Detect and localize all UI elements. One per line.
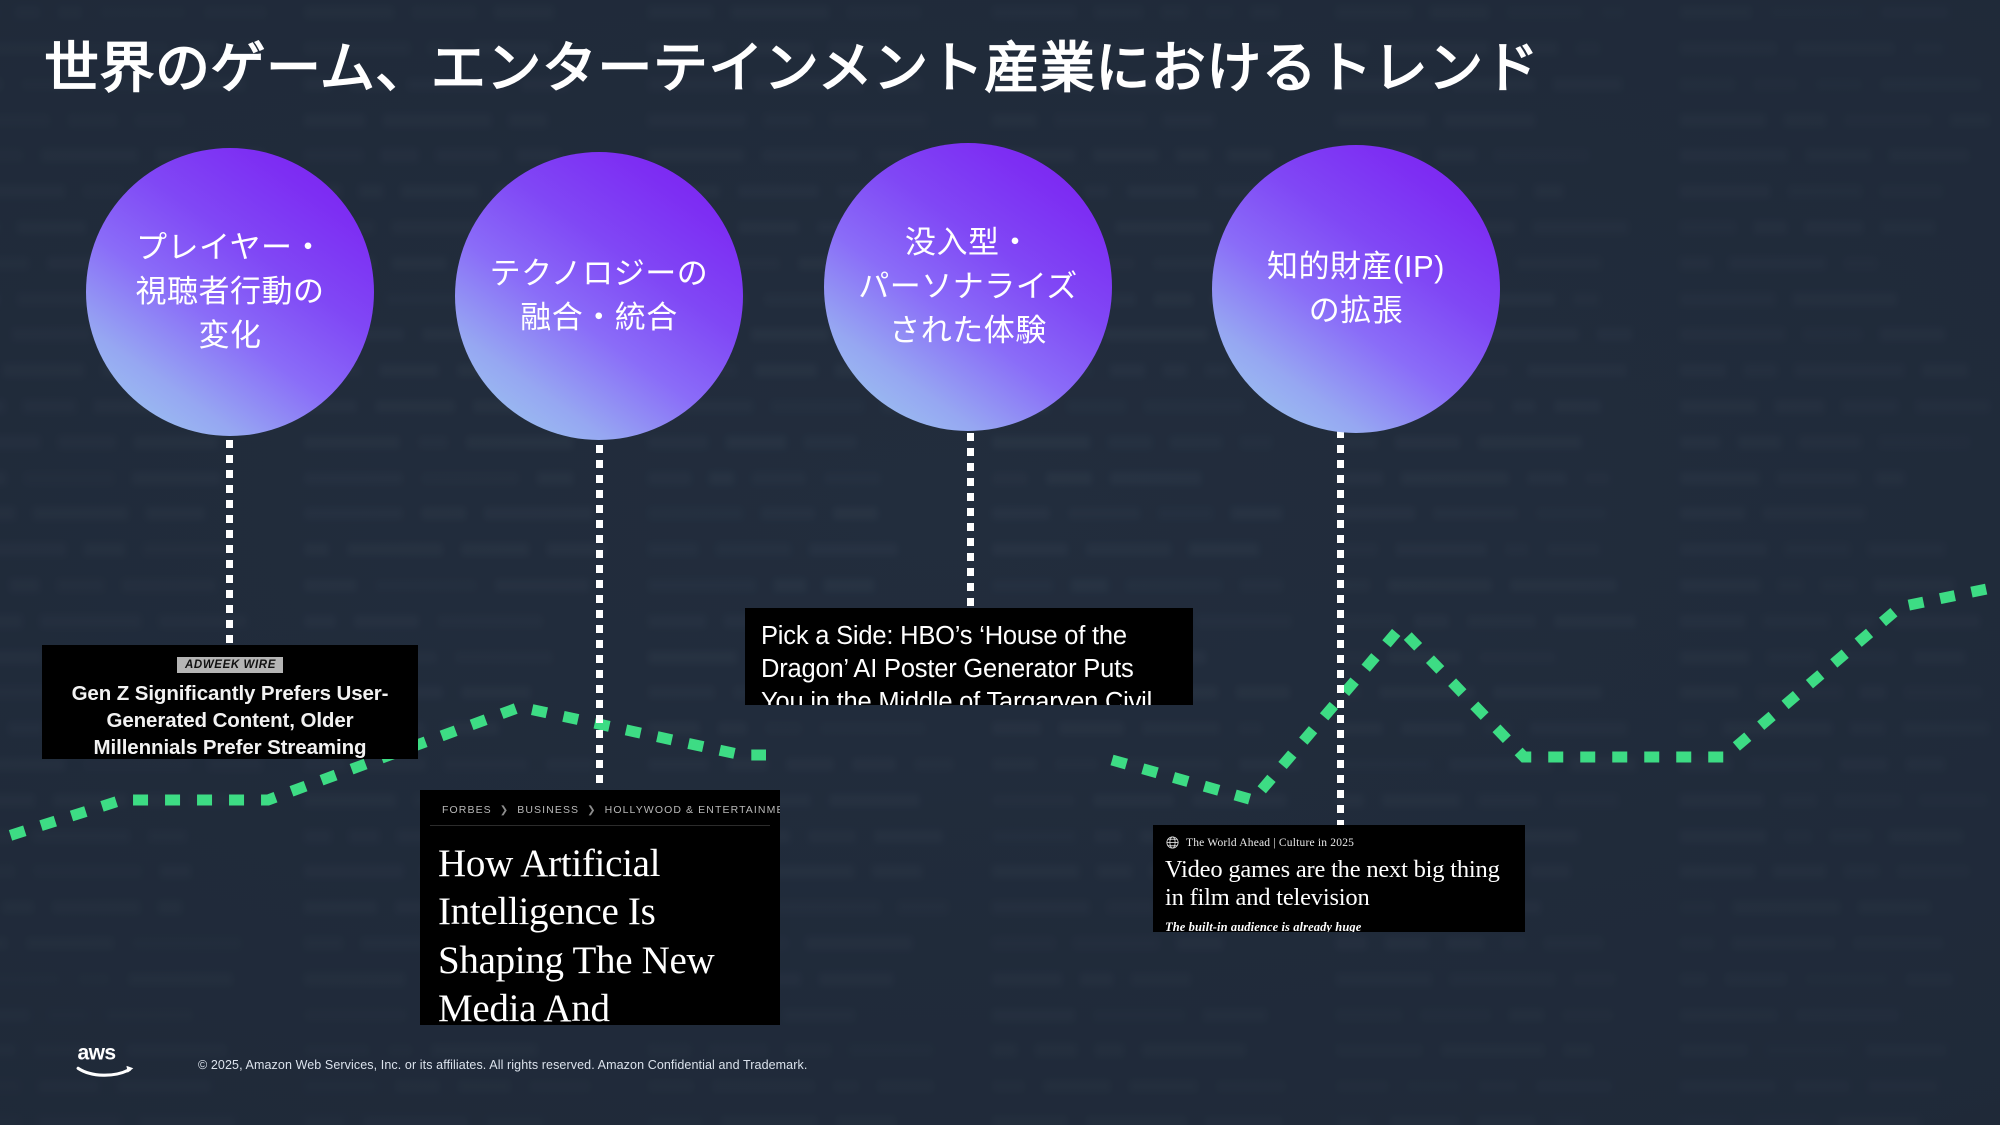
circle-label-line: 没入型・	[844, 221, 1092, 265]
globe-icon	[1165, 835, 1180, 850]
circle-label-line: された体験	[844, 309, 1092, 353]
economist-headline: Video games are the next big thing in fi…	[1165, 856, 1513, 913]
news-card-economist[interactable]: The World Ahead | Culture in 2025 Video …	[1153, 825, 1525, 932]
circle-label-line: パーソナライズ	[844, 265, 1092, 309]
economist-brand-label: The World Ahead | Culture in 2025	[1186, 837, 1354, 849]
dotted-drop-line-1	[226, 425, 233, 650]
slide-canvas: 世界のゲーム、エンターテインメント産業におけるトレンド プレイヤー・ 視聴者行動…	[0, 0, 2000, 1125]
circle-label-4: 知的財産(IP) の拡張	[1253, 245, 1459, 333]
circle-label-line: テクノロジーの	[476, 252, 723, 296]
circle-label-line: 融合・統合	[476, 296, 723, 340]
circle-label-line: 知的財産(IP)	[1253, 245, 1459, 289]
breadcrumb-item-hollywood-entertainment[interactable]: HOLLYWOOD & ENTERTAINMENT	[605, 804, 780, 816]
news-card-hbo[interactable]: Pick a Side: HBO’s ‘House of the Dragon’…	[745, 608, 1193, 705]
circle-label-line: 変化	[122, 314, 339, 358]
adweek-headline: Gen Z Significantly Prefers User-Generat…	[56, 680, 404, 759]
economist-brand-row: The World Ahead | Culture in 2025	[1165, 835, 1513, 850]
circle-label-1: プレイヤー・ 視聴者行動の 変化	[122, 226, 339, 358]
aws-logo: aws	[75, 1039, 137, 1079]
circle-label-2: テクノロジーの 融合・統合	[476, 252, 723, 340]
circle-immersive-personalized[interactable]: 没入型・ パーソナライズ された体験	[824, 143, 1112, 431]
dotted-drop-line-2	[596, 430, 603, 795]
chevron-right-icon: ❯	[500, 805, 509, 816]
dotted-drop-line-3	[967, 418, 974, 614]
breadcrumb-item-business[interactable]: BUSINESS	[517, 804, 579, 816]
circle-ip-expansion[interactable]: 知的財産(IP) の拡張	[1212, 145, 1500, 433]
circle-label-3: 没入型・ パーソナライズ された体験	[844, 221, 1092, 353]
circle-technology-convergence[interactable]: テクノロジーの 融合・統合	[455, 152, 743, 440]
news-card-forbes[interactable]: FORBES ❯ BUSINESS ❯ HOLLYWOOD & ENTERTAI…	[420, 790, 780, 1025]
circle-label-line: プレイヤー・	[122, 226, 339, 270]
economist-subtitle: The built-in audience is already huge	[1165, 920, 1513, 932]
forbes-breadcrumb-wrap: FORBES ❯ BUSINESS ❯ HOLLYWOOD & ENTERTAI…	[430, 790, 770, 826]
adweek-kicker-badge: ADWEEK WIRE	[177, 657, 283, 673]
forbes-headline: How Artificial Intelligence Is Shaping T…	[420, 826, 780, 1025]
svg-text:aws: aws	[77, 1042, 115, 1065]
page-title: 世界のゲーム、エンターテインメント産業におけるトレンド	[44, 34, 1539, 103]
breadcrumb-item-forbes[interactable]: FORBES	[442, 804, 492, 816]
hbo-headline: Pick a Side: HBO’s ‘House of the Dragon’…	[761, 620, 1177, 705]
circle-label-line: 視聴者行動の	[122, 270, 339, 314]
footer-copyright: © 2025, Amazon Web Services, Inc. or its…	[198, 1058, 807, 1072]
chevron-right-icon: ❯	[587, 805, 596, 816]
circle-label-line: の拡張	[1253, 289, 1459, 333]
news-card-adweek[interactable]: ADWEEK WIRE Gen Z Significantly Prefers …	[42, 645, 418, 759]
circle-player-viewer-behavior[interactable]: プレイヤー・ 視聴者行動の 変化	[86, 148, 374, 436]
breadcrumb: FORBES ❯ BUSINESS ❯ HOLLYWOOD & ENTERTAI…	[442, 804, 758, 816]
dotted-drop-line-4	[1337, 430, 1344, 830]
